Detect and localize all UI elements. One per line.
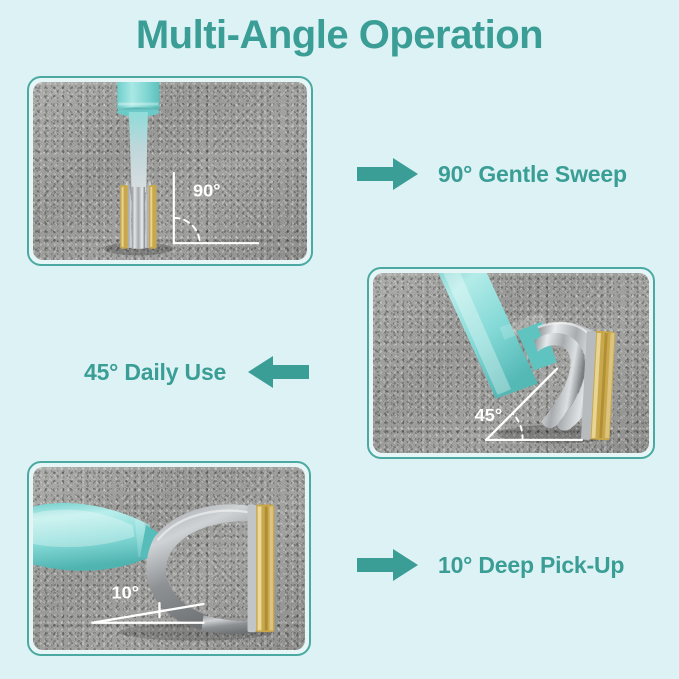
tool-illustration-90: 90°	[33, 82, 307, 260]
angle-panel-10: 10°	[27, 461, 311, 656]
tool-illustration-10: 10°	[33, 467, 305, 650]
callout-label-45: 45° Daily Use	[84, 359, 226, 386]
carpet-photo-90: 90°	[33, 82, 307, 260]
angle-panel-45: 45°	[367, 267, 655, 459]
callout-row-45: 45° Daily Use	[84, 350, 310, 394]
arrow-right-icon	[357, 157, 419, 191]
callout-label-90: 90° Gentle Sweep	[438, 161, 627, 188]
callout-row-10: 10° Deep Pick-Up	[357, 543, 624, 587]
arrow-right-icon	[357, 548, 419, 582]
angle-label-10: 10°	[112, 583, 140, 603]
angle-label-90: 90°	[193, 180, 221, 200]
tool-illustration-45: 45°	[373, 273, 649, 453]
page-title: Multi-Angle Operation	[0, 13, 679, 58]
angle-label-45: 45°	[475, 405, 503, 425]
arrow-left-icon	[248, 355, 310, 389]
carpet-photo-10: 10°	[33, 467, 305, 650]
carpet-photo-45: 45°	[373, 273, 649, 453]
angle-panel-90: 90°	[27, 76, 313, 266]
callout-row-90: 90° Gentle Sweep	[357, 152, 627, 196]
callout-label-10: 10° Deep Pick-Up	[438, 552, 624, 579]
